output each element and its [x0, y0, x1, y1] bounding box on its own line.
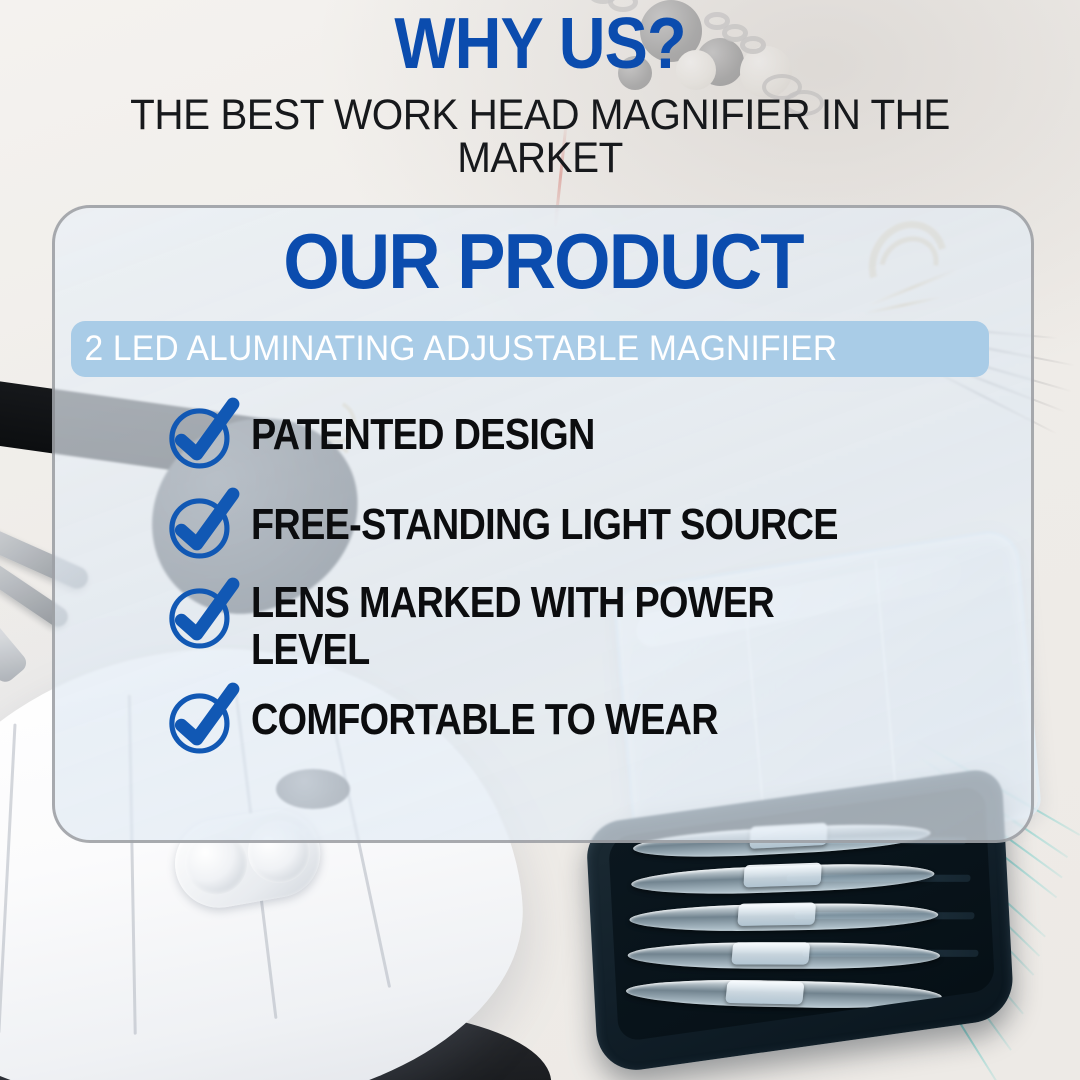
lens-bridge [731, 942, 810, 964]
product-card: OUR PRODUCT 2 LED ALUMINATING ADJUSTABLE… [52, 205, 1034, 843]
product-infographic-poster: WHY US? THE BEST WORK HEAD MAGNIFIER IN … [0, 0, 1080, 1080]
check-circle-icon [159, 572, 245, 658]
poster-header: WHY US? THE BEST WORK HEAD MAGNIFIER IN … [0, 10, 1080, 180]
feature-label: COMFORTABLE TO WEAR [251, 681, 718, 744]
list-item: COMFORTABLE TO WEAR [159, 681, 1007, 763]
tagline-band: 2 LED ALUMINATING ADJUSTABLE MAGNIFIER [71, 321, 989, 377]
lens-bridge [725, 981, 804, 1005]
page-subtitle: THE BEST WORK HEAD MAGNIFIER IN THE MARK… [32, 94, 1047, 180]
list-item: LENS MARKED WITH POWER LEVEL [159, 576, 1007, 673]
feature-list: PATENTED DESIGN FREE-STANDING LIGHT SOUR… [159, 396, 1007, 771]
feature-label: LENS MARKED WITH POWER LEVEL [251, 576, 853, 673]
check-circle-icon [159, 392, 245, 478]
lens-bridge [737, 902, 816, 926]
feature-label: PATENTED DESIGN [251, 396, 595, 459]
list-item: FREE-STANDING LIGHT SOURCE [159, 486, 1007, 568]
lens-bridge [743, 863, 821, 888]
check-circle-icon [159, 677, 245, 763]
card-title: OUR PRODUCT [89, 222, 997, 300]
feature-label: FREE-STANDING LIGHT SOURCE [251, 486, 838, 549]
check-circle-icon [159, 482, 245, 568]
visor-seam [0, 724, 17, 1034]
tagline-text: 2 LED ALUMINATING ADJUSTABLE MAGNIFIER [71, 329, 837, 369]
page-title: WHY US? [54, 10, 1026, 78]
list-item: PATENTED DESIGN [159, 396, 1007, 478]
